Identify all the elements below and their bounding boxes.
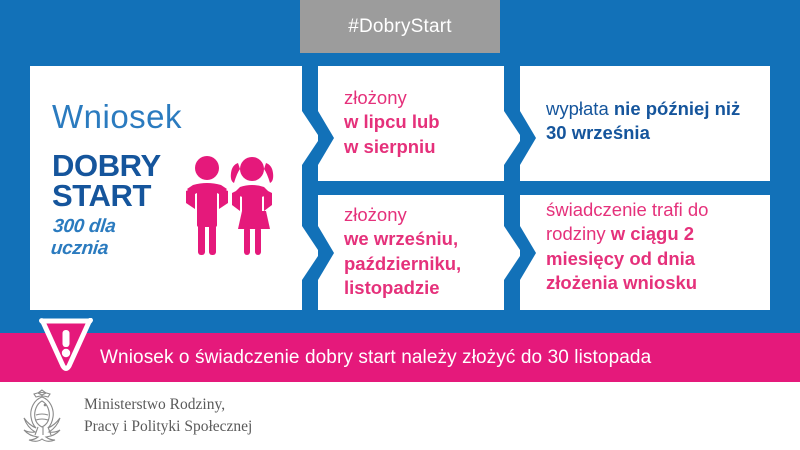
condition-text-row1: złożony w lipcu lub w sierpniu	[344, 86, 504, 159]
polish-eagle-emblem	[14, 385, 70, 448]
hashtag-label: #DobryStart	[348, 16, 452, 38]
hashtag-tab: #DobryStart	[300, 0, 500, 53]
condition-bold3-row2: listopadzie	[344, 277, 440, 298]
logo-word-dobry: DOBRY	[52, 151, 172, 181]
outcome-light-row1: wypłata	[546, 98, 614, 119]
condition-light-row2: złożony	[344, 204, 407, 225]
two-children-icon	[180, 155, 280, 264]
dobry-start-logo: Wniosek DOBRY START 300 dla ucznia	[52, 100, 292, 264]
warning-triangle-icon	[38, 318, 94, 372]
logo-heading: Wniosek	[52, 100, 292, 133]
condition-text-row2: złożony we wrześniu, październiku, listo…	[344, 203, 509, 301]
alert-banner: Wniosek o świadczenie dobry start należy…	[0, 333, 800, 382]
condition-bold2-row2: październiku,	[344, 253, 461, 274]
ministry-line-1: Ministerstwo Rodziny,	[84, 394, 252, 416]
logo-word-start: START	[52, 181, 172, 211]
outcome-text-row1: wypłata nie później niż 30 września	[546, 97, 760, 146]
condition-bold1-row1: w lipcu lub	[344, 111, 440, 132]
ministry-line-2: Pracy i Polityki Społecznej	[84, 416, 252, 438]
ministry-name: Ministerstwo Rodziny, Pracy i Polityki S…	[84, 394, 252, 438]
condition-bold1-row2: we wrześniu,	[344, 228, 458, 249]
condition-bold2-row1: w sierpniu	[344, 136, 436, 157]
condition-light-row1: złożony	[344, 87, 407, 108]
logo-wordmark: DOBRY START 300 dla ucznia	[52, 151, 172, 260]
outcome-text-row2: świadczenie trafi do rodziny w ciągu 2 m…	[546, 198, 762, 296]
logo-tagline: 300 dla ucznia	[50, 216, 175, 260]
footer: Ministerstwo Rodziny, Pracy i Polityki S…	[0, 382, 800, 450]
alert-text: Wniosek o świadczenie dobry start należy…	[100, 347, 651, 369]
poster-root: #DobryStart Wniosek DOBRY START 300 dla …	[0, 0, 800, 450]
